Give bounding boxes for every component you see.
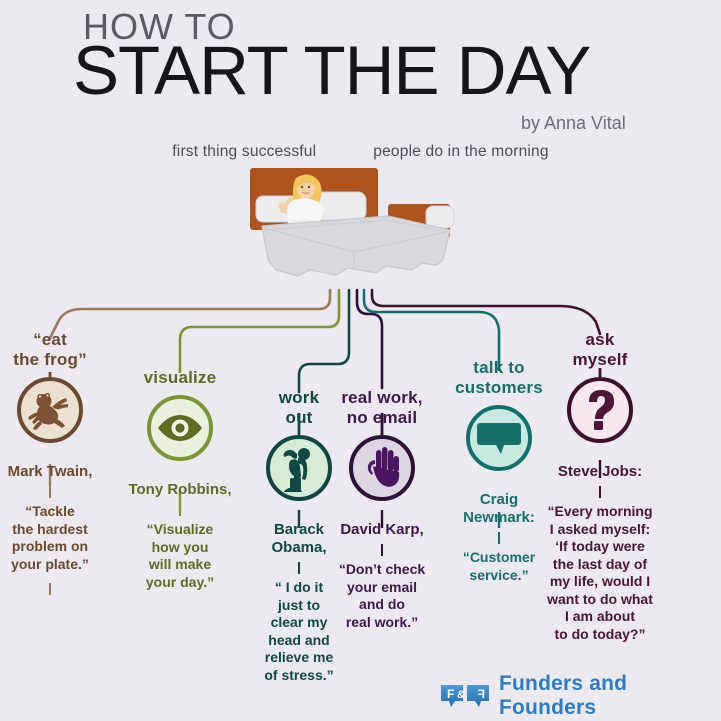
svg-text:F: F — [447, 687, 454, 701]
infographic-canvas: HOW TO START THE DAY by Anna Vital first… — [0, 0, 721, 721]
branch-person-ask-myself: Steve Jobs: — [530, 463, 670, 481]
double-speech-bubble-f-and-f-icon: F & F — [440, 683, 490, 709]
svg-text:F: F — [478, 687, 485, 701]
branch-quote-ask-myself: “Every morningI asked myself:‘If today w… — [530, 503, 670, 643]
branch-label-ask-myself: askmyself — [530, 330, 670, 370]
branch-label-visualize: visualize — [110, 368, 250, 388]
branch-divider-tick — [381, 544, 383, 556]
svg-text:&: & — [457, 689, 465, 701]
branch-divider-tick — [599, 486, 601, 498]
branch-quote-eat-the-frog: “Tacklethe hardestproblem onyour plate.” — [0, 503, 120, 573]
logo-wordmark: Funders and Founders — [499, 672, 721, 720]
branch-divider-tick — [498, 532, 500, 544]
branch-icon-circle-real-work-no-email — [349, 435, 415, 501]
branch-label-eat-the-frog: “eatthe frog” — [0, 330, 120, 370]
hand-stop-icon — [362, 446, 402, 490]
branch-ask-myself: askmyself Steve Jobs:“Every morningI ask… — [530, 330, 670, 643]
branch-divider-tick — [298, 562, 300, 574]
eye-icon — [156, 413, 204, 443]
frog-icon — [27, 390, 73, 430]
speech-bubble-icon — [476, 421, 522, 455]
branch-icon-circle-ask-myself — [567, 377, 633, 443]
branch-eat-the-frog: “eatthe frog” Mark Twain,“Tacklethe hard… — [0, 330, 120, 600]
branch-icon-circle-visualize — [147, 395, 213, 461]
branch-icon-circle-eat-the-frog — [17, 377, 83, 443]
branch-icon-circle-talk-to-customers — [466, 405, 532, 471]
branch-divider-tick — [179, 504, 181, 516]
branch-divider-tick — [49, 486, 51, 498]
branch-person-eat-the-frog: Mark Twain, — [0, 463, 120, 481]
funders-and-founders-logo[interactable]: F & F Funders and Founders — [440, 672, 721, 720]
question-mark-icon — [583, 388, 617, 432]
branch-trailing-tick — [49, 583, 51, 595]
